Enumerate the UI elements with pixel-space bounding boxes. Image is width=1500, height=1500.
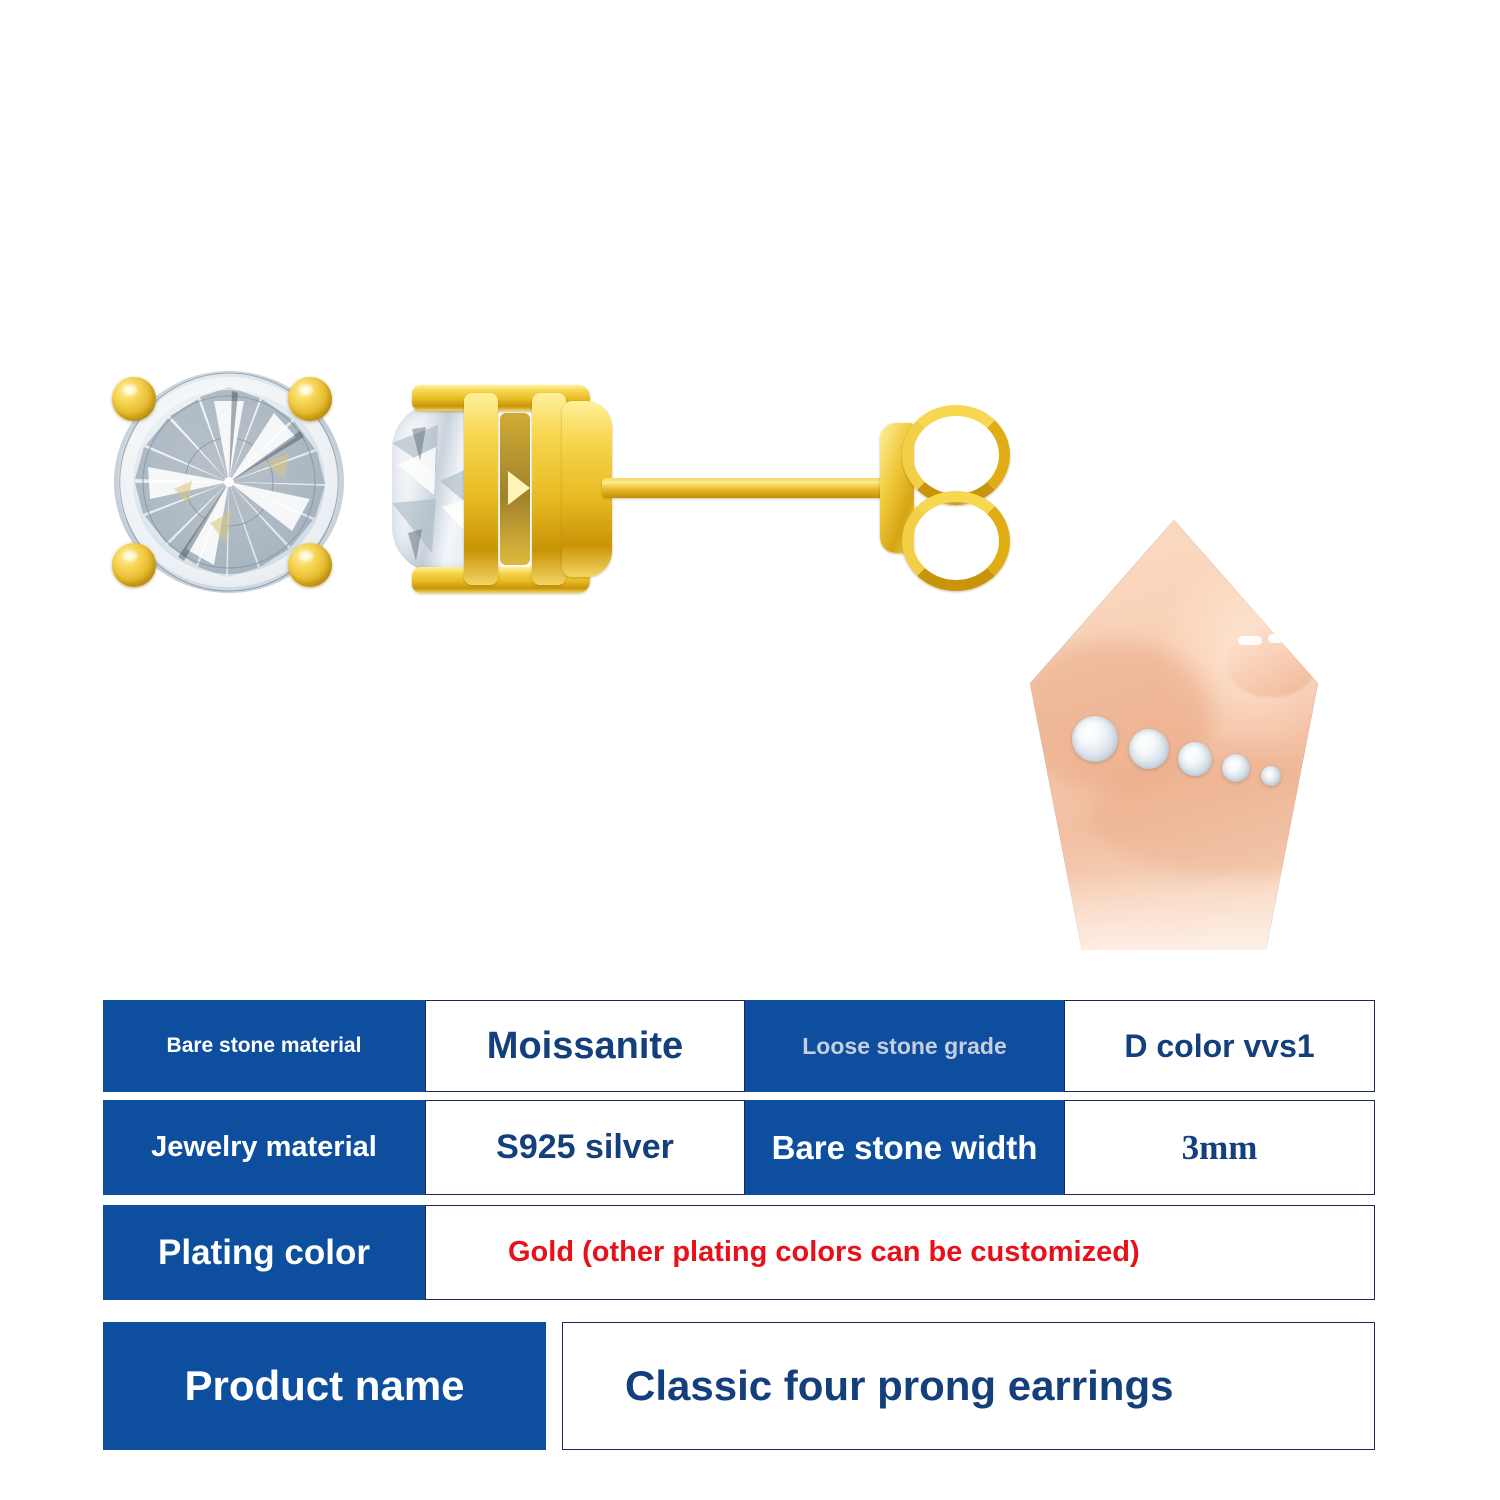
front-view-stud-earring bbox=[104, 363, 354, 603]
side-view-stud-earring bbox=[392, 375, 952, 605]
spec-table: Bare stone material Moissanite Loose sto… bbox=[103, 1000, 1375, 1450]
size-stud-1 bbox=[1072, 716, 1118, 762]
label-text: Loose stone grade bbox=[802, 1033, 1006, 1060]
table-row: Plating color Gold (other plating colors… bbox=[103, 1205, 1375, 1300]
cell-value-loose-stone-grade: D color vvs1 bbox=[1064, 1000, 1375, 1092]
cell-label-jewelry-material: Jewelry material bbox=[103, 1100, 425, 1195]
label-text: Bare stone width bbox=[772, 1129, 1038, 1167]
basket-prong-wall-right bbox=[532, 393, 566, 585]
basket-prong-wall-left bbox=[464, 393, 498, 585]
value-text: S925 silver bbox=[496, 1128, 674, 1167]
cell-value-plating-color: Gold (other plating colors can be custom… bbox=[425, 1205, 1375, 1300]
label-text: Bare stone material bbox=[167, 1033, 362, 1059]
fingernail-gloss-right bbox=[1268, 634, 1284, 643]
fingernail-gloss-left bbox=[1238, 636, 1262, 645]
cell-label-bare-stone-width: Bare stone width bbox=[745, 1100, 1064, 1195]
cell-value-bare-stone-width: 3mm bbox=[1064, 1100, 1375, 1195]
cell-label-product-name: Product name bbox=[103, 1322, 546, 1450]
prong-bottom-right-icon bbox=[288, 543, 332, 587]
prong-top-left-icon bbox=[112, 377, 156, 421]
size-stud-2 bbox=[1129, 729, 1169, 769]
cell-label-bare-stone-material: Bare stone material bbox=[103, 1000, 425, 1092]
prong-top-right-icon bbox=[288, 377, 332, 421]
value-text: Moissanite bbox=[487, 1025, 683, 1068]
cell-value-product-name: Classic four prong earrings bbox=[562, 1322, 1375, 1450]
gold-basket-setting bbox=[412, 383, 612, 595]
photo-bottom-fade bbox=[1030, 872, 1318, 950]
size-comparison-on-hand bbox=[1030, 520, 1318, 950]
table-row: Jewelry material S925 silver Bare stone … bbox=[103, 1100, 1375, 1195]
earring-post bbox=[602, 478, 912, 498]
value-text: Classic four prong earrings bbox=[625, 1362, 1173, 1410]
label-text: Jewelry material bbox=[151, 1131, 377, 1164]
cell-value-bare-stone-material: Moissanite bbox=[425, 1000, 745, 1092]
value-text: Gold (other plating colors can be custom… bbox=[508, 1236, 1140, 1269]
table-row: Bare stone material Moissanite Loose sto… bbox=[103, 1000, 1375, 1092]
label-text: Product name bbox=[184, 1362, 464, 1410]
prong-bottom-left-icon bbox=[112, 543, 156, 587]
clutch-loop-bottom bbox=[902, 491, 1010, 591]
clutch-loop-top bbox=[902, 405, 1010, 505]
cell-label-plating-color: Plating color bbox=[103, 1205, 425, 1300]
size-stud-4 bbox=[1222, 754, 1250, 782]
table-row: Product name Classic four prong earrings bbox=[103, 1322, 1375, 1450]
row-gap-spacer bbox=[546, 1322, 562, 1450]
label-text: Plating color bbox=[158, 1233, 370, 1273]
cell-label-loose-stone-grade: Loose stone grade bbox=[745, 1000, 1064, 1092]
size-stud-3 bbox=[1178, 742, 1212, 776]
size-stud-5 bbox=[1261, 766, 1281, 786]
value-text: D color vvs1 bbox=[1124, 1028, 1314, 1065]
butterfly-clutch-back bbox=[880, 405, 1010, 575]
cell-value-jewelry-material: S925 silver bbox=[425, 1100, 745, 1195]
value-text: 3mm bbox=[1182, 1128, 1258, 1168]
product-photo-area bbox=[0, 0, 1500, 980]
